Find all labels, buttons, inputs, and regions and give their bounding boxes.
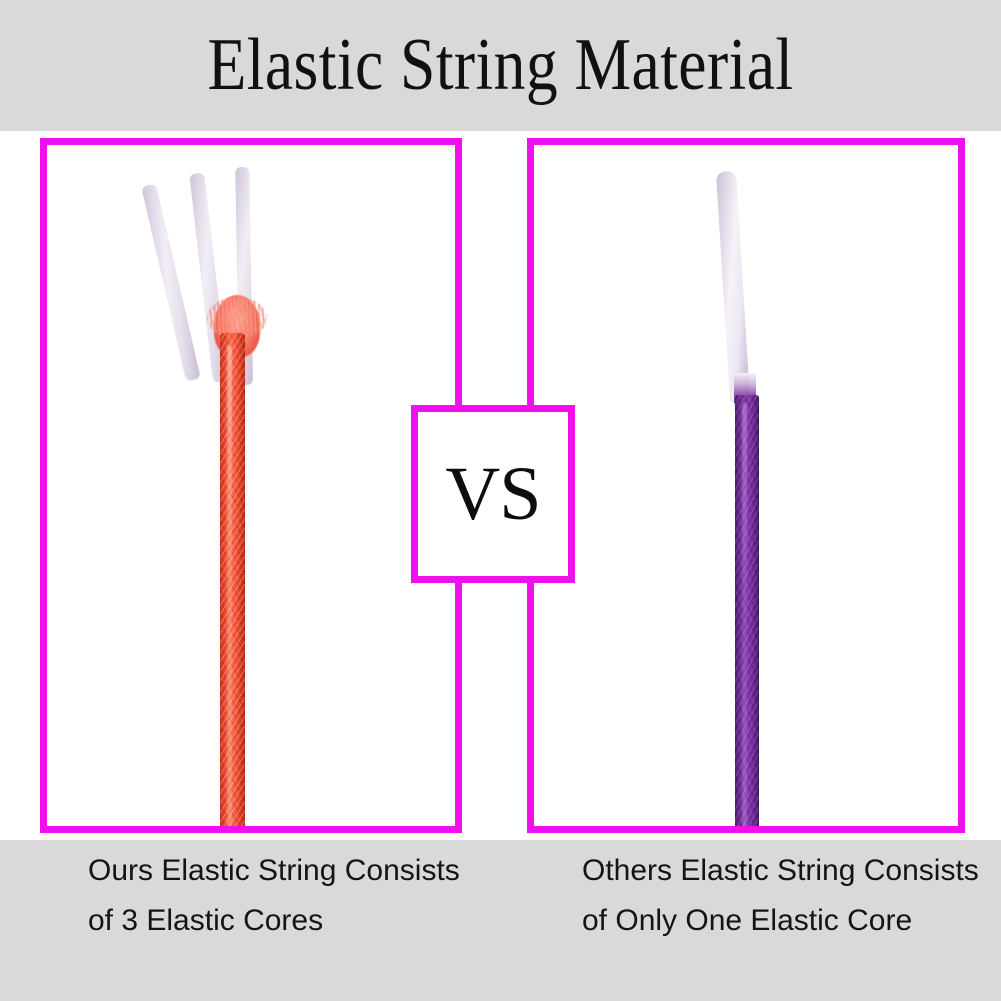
others-cord-photo: [534, 145, 958, 826]
panel-ours[interactable]: [40, 138, 462, 833]
vs-label: VS: [445, 456, 540, 532]
red-braided-cord: [220, 333, 245, 833]
caption-others: Others Elastic String Consists of Only O…: [582, 846, 982, 946]
comparison-stage: VS: [0, 131, 1001, 840]
header-band: Elastic String Material: [0, 0, 1001, 131]
purple-cord-highlight: [742, 403, 747, 833]
page-title: Elastic String Material: [70, 0, 931, 131]
elastic-core-1: [141, 183, 201, 381]
caption-band: Ours Elastic String Consists of 3 Elasti…: [0, 840, 1001, 1001]
red-cord-highlight: [227, 345, 232, 833]
panel-others[interactable]: [527, 138, 965, 833]
single-elastic-core: [716, 171, 750, 402]
elastic-string-comparison-infographic: Elastic String Material: [0, 0, 1001, 1001]
purple-braided-cord: [735, 395, 759, 833]
ours-cord-photo: [47, 145, 455, 826]
vs-badge: VS: [411, 405, 575, 583]
caption-ours: Ours Elastic String Consists of 3 Elasti…: [88, 846, 468, 946]
